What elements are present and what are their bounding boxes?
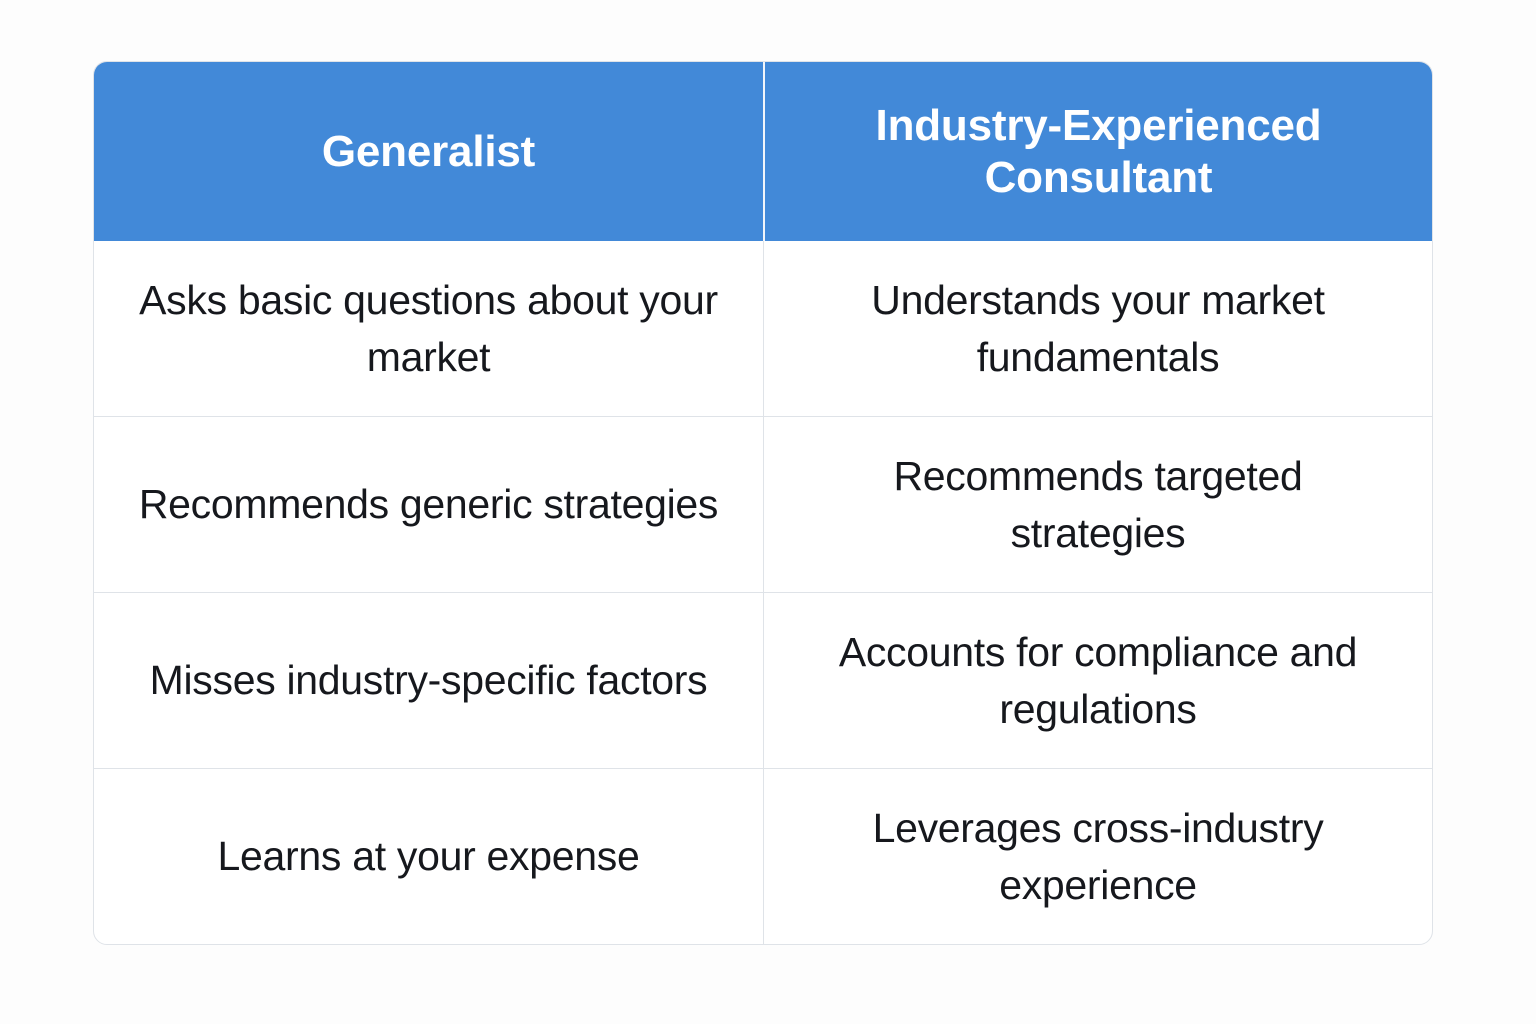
comparison-table: Generalist Industry-Experienced Consulta… bbox=[93, 61, 1433, 945]
column-header-industry-experienced-consultant-label: Industry-Experienced Consultant bbox=[789, 100, 1408, 202]
table-row: Learns at your expense Leverages cross-i… bbox=[94, 768, 1432, 944]
cell-text: Recommends targeted strategies bbox=[804, 448, 1392, 561]
column-header-generalist-label: Generalist bbox=[322, 126, 535, 177]
column-header-industry-experienced-consultant: Industry-Experienced Consultant bbox=[763, 62, 1432, 241]
cell-generalist-3: Misses industry-specific factors bbox=[94, 593, 763, 768]
cell-consultant-1: Understands your market fundamentals bbox=[763, 241, 1432, 416]
cell-generalist-2: Recommends generic strategies bbox=[94, 417, 763, 592]
cell-consultant-4: Leverages cross-industry experience bbox=[763, 769, 1432, 944]
table-row: Asks basic questions about your market U… bbox=[94, 241, 1432, 416]
cell-text: Accounts for compliance and regulations bbox=[804, 624, 1392, 737]
cell-consultant-3: Accounts for compliance and regulations bbox=[763, 593, 1432, 768]
cell-text: Learns at your expense bbox=[218, 828, 640, 885]
table-row: Recommends generic strategies Recommends… bbox=[94, 416, 1432, 592]
cell-text: Leverages cross-industry experience bbox=[804, 800, 1392, 913]
cell-text: Understands your market fundamentals bbox=[804, 272, 1392, 385]
cell-generalist-4: Learns at your expense bbox=[94, 769, 763, 944]
column-header-generalist: Generalist bbox=[94, 62, 763, 241]
cell-generalist-1: Asks basic questions about your market bbox=[94, 241, 763, 416]
cell-text: Asks basic questions about your market bbox=[134, 272, 723, 385]
table-header-row: Generalist Industry-Experienced Consulta… bbox=[94, 62, 1432, 241]
page-root: Generalist Industry-Experienced Consulta… bbox=[0, 0, 1536, 1024]
cell-text: Misses industry-specific factors bbox=[150, 652, 708, 709]
table-body: Asks basic questions about your market U… bbox=[94, 241, 1432, 944]
cell-text: Recommends generic strategies bbox=[139, 476, 718, 533]
table-row: Misses industry-specific factors Account… bbox=[94, 592, 1432, 768]
cell-consultant-2: Recommends targeted strategies bbox=[763, 417, 1432, 592]
